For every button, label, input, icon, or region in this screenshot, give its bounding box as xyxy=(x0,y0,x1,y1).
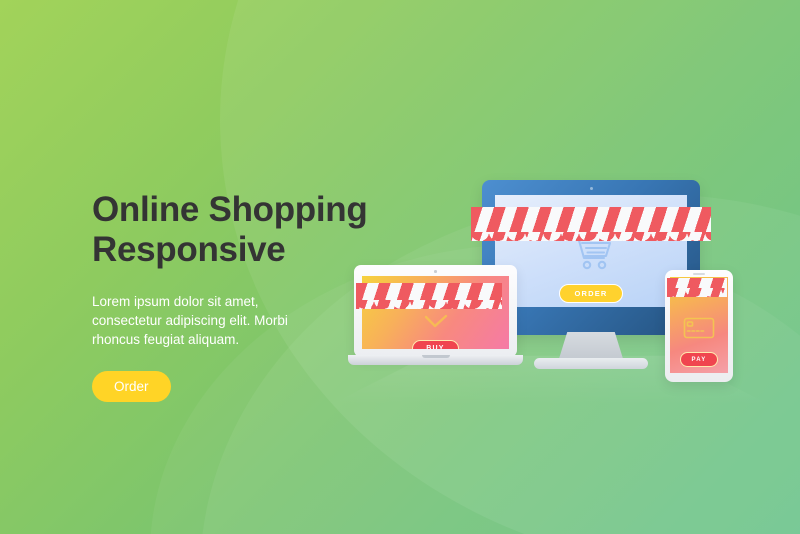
smartphone[interactable]: PAY xyxy=(665,270,733,382)
awning-scallop-edge xyxy=(667,288,727,306)
devices-illustration: ORDER xyxy=(330,160,770,410)
phone-speaker-icon xyxy=(693,273,705,275)
phone-awning xyxy=(667,278,727,297)
awning-scallop-edge xyxy=(356,300,502,318)
hero-description: Lorem ipsum dolor sit amet, consectetur … xyxy=(92,292,324,349)
page-title-line-1: Online Shopping xyxy=(92,190,367,229)
phone-pay-button[interactable]: PAY xyxy=(680,352,719,367)
laptop[interactable]: BUY xyxy=(348,265,523,375)
credit-card-icon xyxy=(683,317,715,344)
laptop-trackpad-notch xyxy=(422,355,450,358)
monitor-awning xyxy=(471,207,711,241)
monitor-order-button[interactable]: ORDER xyxy=(559,284,622,303)
order-button[interactable]: Order xyxy=(92,371,171,402)
hero-banner: Online Shopping Responsive Lorem ipsum d… xyxy=(0,0,800,534)
laptop-awning xyxy=(356,283,502,309)
phone-screen-content: PAY xyxy=(670,317,728,367)
webcam-icon xyxy=(590,187,593,190)
monitor-stand-base xyxy=(534,358,648,369)
awning-scallop-edge xyxy=(471,232,711,250)
laptop-webcam-icon xyxy=(434,270,437,273)
laptop-buy-button[interactable]: BUY xyxy=(412,340,458,349)
laptop-screen-content: BUY xyxy=(362,314,509,349)
page-title-line-2: Responsive xyxy=(92,230,285,269)
